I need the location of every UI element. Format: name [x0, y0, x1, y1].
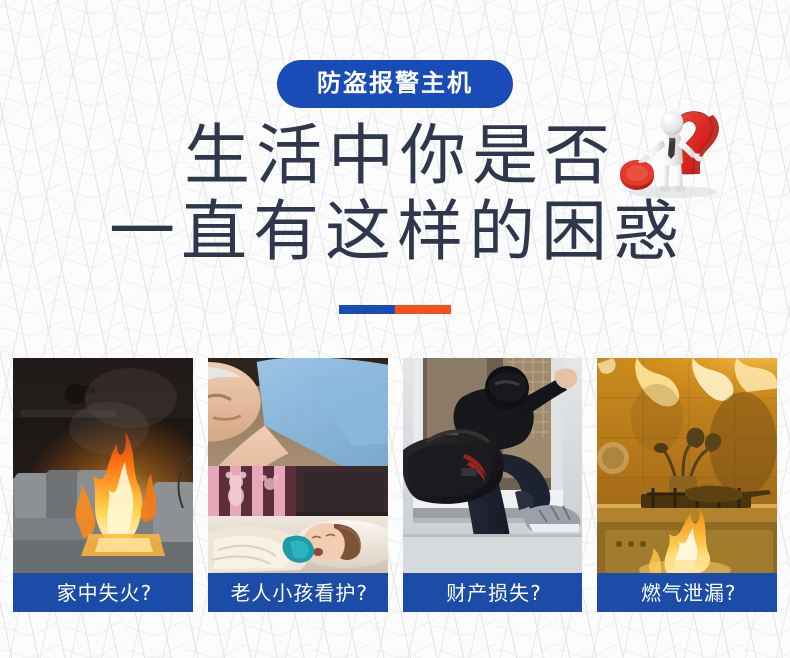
scenario-panel-gas[interactable]: 燃气泄漏?: [597, 358, 777, 612]
divider-segment-blue: [339, 305, 395, 314]
kitchen-gas-fire-photo: [597, 358, 777, 573]
divider-segment-orange: [395, 305, 451, 314]
3d-man-with-question-mark-icon: [612, 104, 730, 200]
panel-caption: 财产损失?: [403, 573, 583, 612]
sleeping-child-photo: [208, 466, 388, 573]
scenario-panel-theft[interactable]: 财产损失?: [403, 358, 583, 612]
panel-caption: 老人小孩看护?: [208, 573, 388, 612]
badge-container: 防盗报警主机: [0, 60, 790, 108]
burglar-climbing-window-photo: [403, 358, 583, 573]
elderly-fall-photo: [208, 358, 388, 466]
section-divider: [339, 305, 451, 314]
scenario-panel-care[interactable]: 老人小孩看护?: [208, 358, 388, 612]
scenario-panel-row: 家中失火?: [13, 358, 777, 612]
scenario-panel-fire[interactable]: 家中失火?: [13, 358, 193, 612]
panel-caption: 燃气泄漏?: [597, 573, 777, 612]
panel-caption: 家中失火?: [13, 573, 193, 612]
product-badge: 防盗报警主机: [277, 60, 513, 108]
promo-page-root: 防盗报警主机 生活中你是否 一直有这样的困惑: [0, 0, 790, 658]
burning-sofa-photo: [13, 358, 193, 573]
headline-line-2: 一直有这样的困惑: [0, 194, 790, 270]
